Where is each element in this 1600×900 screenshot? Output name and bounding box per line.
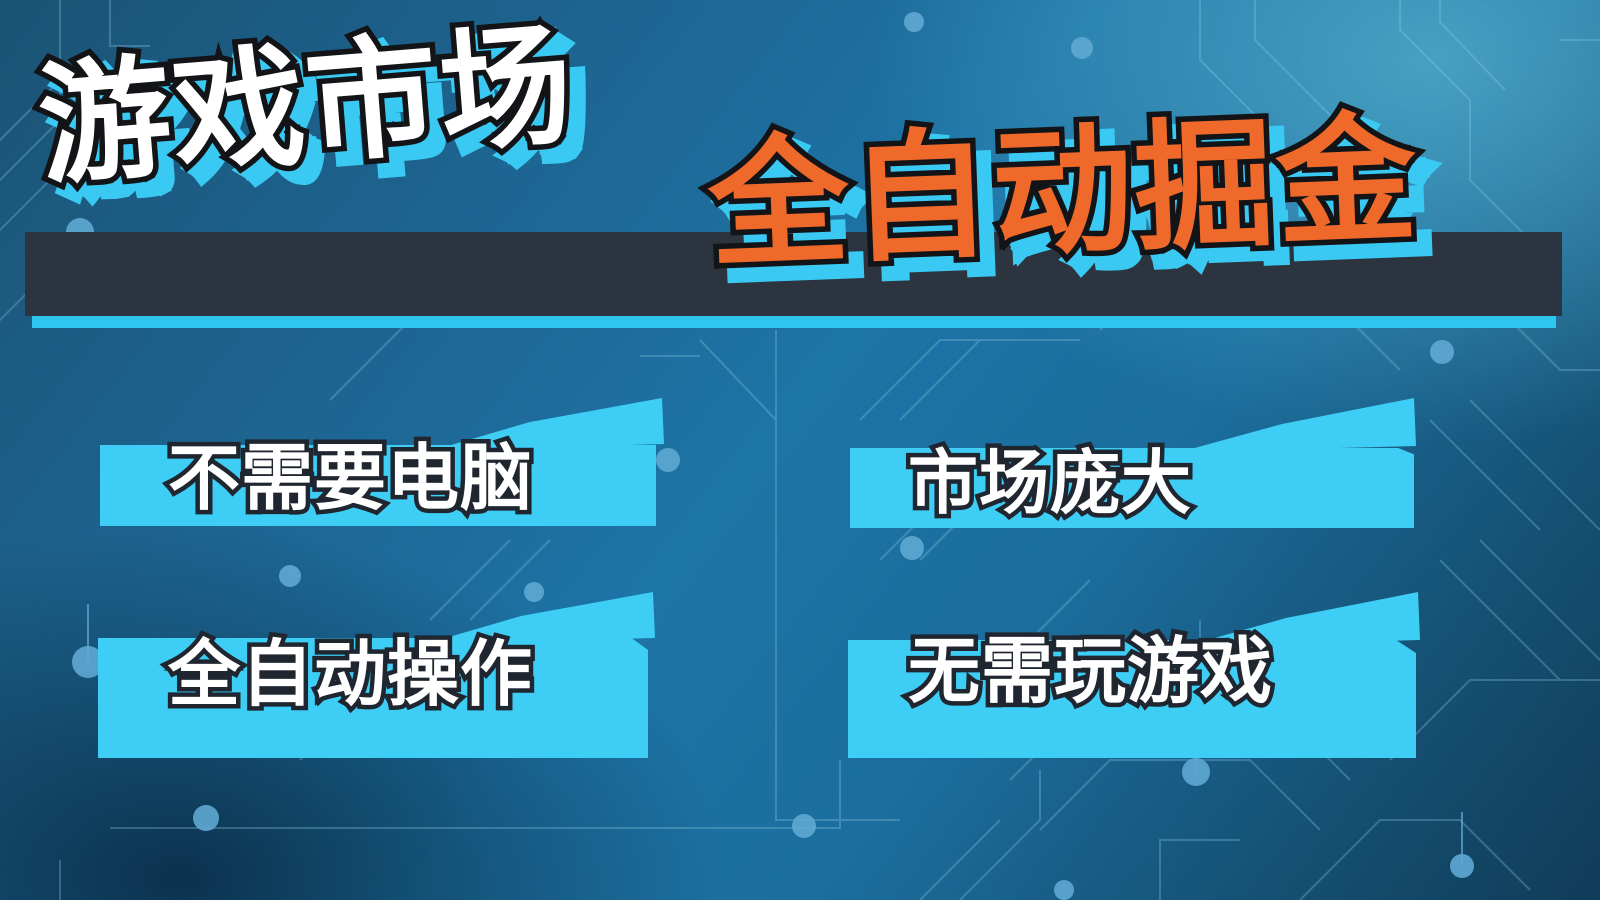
feature-2-label: 市场庞大 [908, 448, 1192, 518]
feature-3-label: 全自动操作 [168, 639, 533, 711]
feature-2-wedge-icon [1180, 398, 1416, 452]
headline-part1: 游戏市场 游戏市场 [34, 19, 579, 194]
feature-1-label: 不需要电脑 [168, 443, 533, 515]
promo-poster: 游戏市场 游戏市场 全自动掘金 全自动掘金 不需要电脑 市场庞大 [0, 0, 1600, 900]
headline-part2: 全自动掘金 全自动掘金 [706, 109, 1421, 276]
feature-4-label: 无需玩游戏 [908, 636, 1273, 708]
headline-part2-text: 全自动掘金 [706, 100, 1422, 284]
headline-group: 游戏市场 游戏市场 全自动掘金 全自动掘金 [0, 0, 1600, 340]
